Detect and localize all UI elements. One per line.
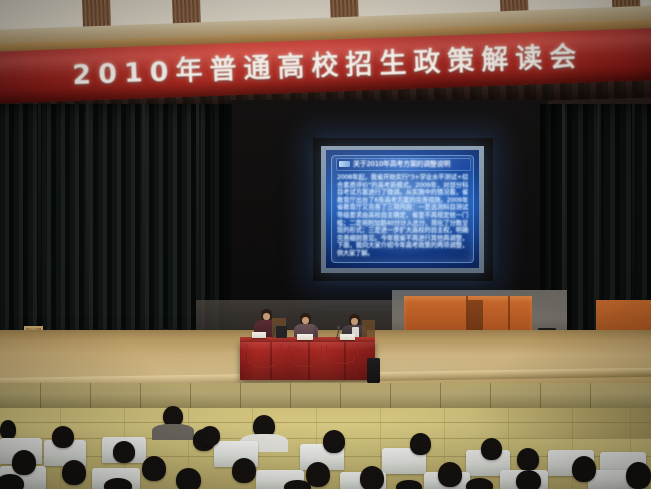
panelist-face [302, 317, 309, 324]
microphone-head-center [314, 326, 317, 329]
name-card-left [252, 332, 266, 338]
audience-head [438, 462, 462, 487]
panelist-face [351, 318, 358, 325]
microphone-head-right [337, 326, 340, 329]
slide-title-marker-icon [339, 161, 350, 167]
cable-drop-left [246, 352, 247, 379]
auditorium-photo: 2010年普通高校招生政策解读会 关于2010年高考方案的调整说明 2008年起… [0, 0, 651, 489]
audience-head [410, 433, 431, 455]
microphone-cable-3 [326, 344, 358, 364]
audience-head [0, 420, 16, 440]
audience-head [52, 426, 74, 448]
audience-head [572, 456, 596, 482]
audience-head [200, 426, 220, 446]
audience-head [142, 456, 166, 481]
audience-head [232, 458, 256, 483]
name-card-right [340, 334, 355, 340]
slide-title-bar: 关于2010年高考方案的调整说明 [336, 158, 471, 171]
audience-head [360, 466, 384, 489]
audience-head [481, 438, 502, 460]
curtain-fold [86, 104, 89, 342]
audience-head [113, 441, 135, 463]
laptop-on-table [276, 326, 287, 338]
audience-head [176, 468, 201, 489]
microphone-cable-1 [246, 344, 282, 368]
projection-screen: 关于2010年高考方案的调整说明 2008年起，我省开始实行"3+学业水平测试+… [326, 150, 479, 268]
audience-head [626, 462, 651, 489]
curtain-fold [38, 104, 41, 342]
cable-drop-right [356, 352, 357, 377]
wall-shadow-right [470, 408, 651, 438]
slide-body-text: 2008年起，我省开始实行"3+学业水平测试+综合素质评价"的高考新模式。200… [337, 174, 468, 258]
audience-shoulders [152, 424, 194, 440]
panelist-face [263, 313, 270, 320]
audience-head [516, 470, 541, 489]
name-card-center [297, 334, 313, 340]
audience-head [12, 450, 36, 475]
audience-head [466, 478, 493, 489]
audience-head [284, 480, 311, 489]
audience-head [517, 448, 539, 471]
audience-head [104, 478, 132, 489]
slide-title-text: 关于2010年高考方案的调整说明 [353, 159, 450, 169]
microphone-cable-2 [288, 345, 322, 367]
audience-head [62, 460, 86, 485]
audience-head [323, 430, 345, 453]
audience-head [396, 480, 422, 489]
bag-beside-table [367, 358, 380, 384]
curtain-fold [142, 104, 145, 342]
slide-paragraph: 2008年起，我省开始实行"3+学业水平测试+综合素质评价"的高考新模式。200… [337, 174, 468, 258]
